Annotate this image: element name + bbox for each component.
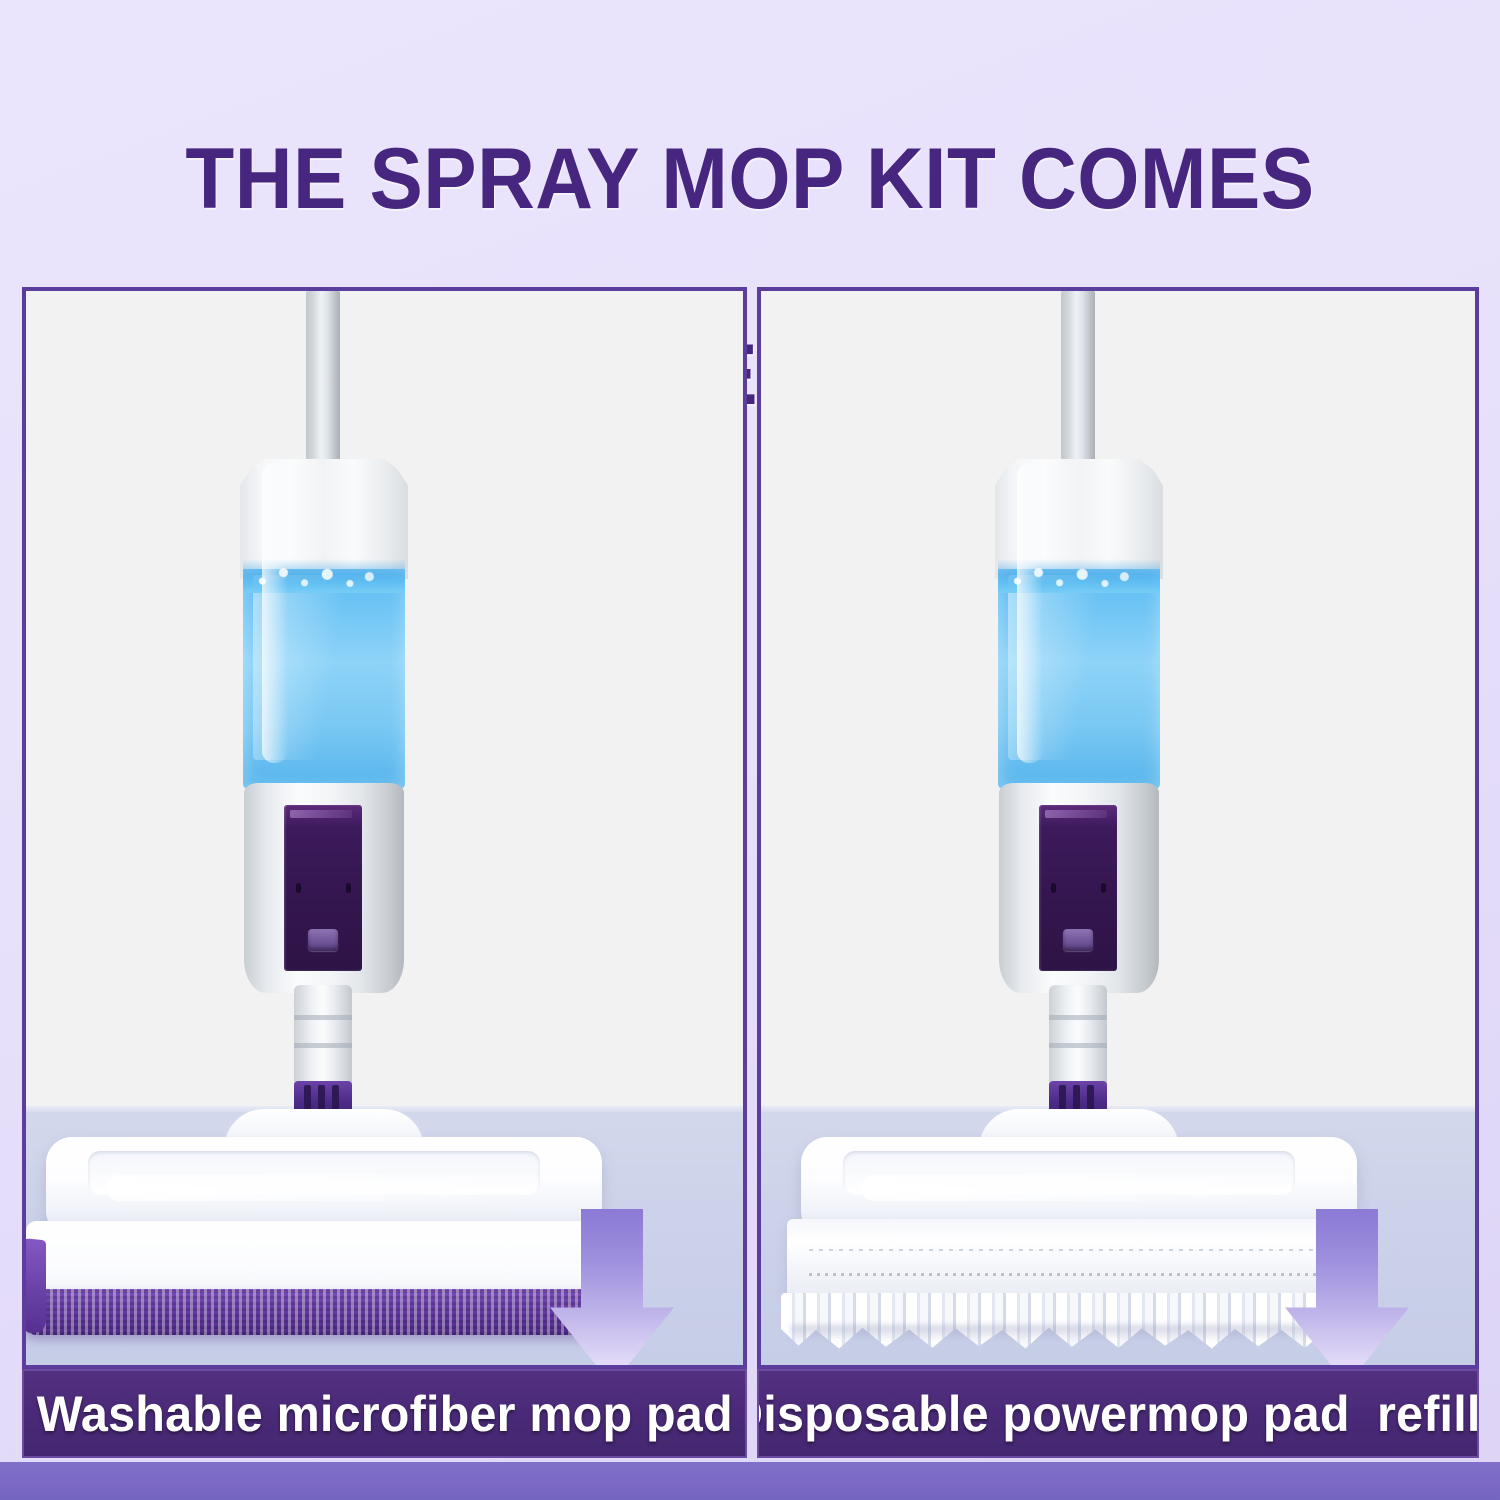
footer-strip xyxy=(0,1462,1500,1500)
caption-bar-right: Disposable powermop pad refills xyxy=(757,1369,1479,1458)
caption-text-left: Washable microfiber mop pad xyxy=(36,1385,732,1443)
spray-button xyxy=(308,929,338,951)
mop-handle-body xyxy=(999,783,1159,993)
spray-mop-illustration-left xyxy=(202,291,442,1365)
caption-text-right: Disposable powermop pad refills xyxy=(757,1385,1479,1443)
neck-rib xyxy=(1049,1015,1107,1020)
spray-mop-illustration-right xyxy=(957,291,1197,1365)
spray-button xyxy=(1063,929,1093,951)
arrow-down-icon xyxy=(1285,1209,1409,1369)
infographic-canvas: THE SPRAY MOP KIT COMES WITH TWO TYPES O… xyxy=(0,0,1500,1500)
solution-bottle xyxy=(995,459,1163,789)
mop-neck xyxy=(1049,985,1107,1091)
mop-head-sheen xyxy=(106,1175,526,1201)
neck-rib xyxy=(294,1015,352,1020)
washable-microfiber-pad xyxy=(26,1221,606,1341)
arrow-down-glyph xyxy=(550,1209,674,1369)
mop-head-sheen xyxy=(861,1175,1281,1201)
mop-handle-body xyxy=(244,783,404,993)
title-line-1: THE SPRAY MOP KIT COMES xyxy=(53,130,1448,228)
bottle-highlight xyxy=(1017,463,1043,763)
pad-purple-microfiber-trim xyxy=(22,1289,610,1335)
pad-stitch-line xyxy=(809,1249,1343,1251)
solution-bottle xyxy=(240,459,408,789)
mop-pole xyxy=(306,291,340,467)
mop-neck xyxy=(294,985,352,1091)
caption-bar-left: Washable microfiber mop pad xyxy=(22,1369,747,1458)
product-panel-left xyxy=(22,287,747,1369)
arrow-down-glyph xyxy=(1285,1209,1409,1369)
spray-trigger-panel xyxy=(284,805,362,971)
neck-rib xyxy=(1049,1043,1107,1048)
bottle-highlight xyxy=(262,463,288,763)
pad-trim-side xyxy=(22,1238,46,1335)
spray-trigger-panel xyxy=(1039,805,1117,971)
trigger-notch-left xyxy=(1051,883,1056,893)
product-panel-right xyxy=(757,287,1479,1369)
trigger-notch-left xyxy=(296,883,301,893)
pad-face xyxy=(787,1219,1353,1305)
disposable-powermop-pad xyxy=(781,1219,1363,1355)
arrow-down-icon xyxy=(550,1209,674,1369)
pad-stitch-line xyxy=(809,1273,1343,1276)
neck-rib xyxy=(294,1043,352,1048)
mop-pole xyxy=(1061,291,1095,467)
pad-drop-shadow xyxy=(791,1325,1351,1341)
trigger-notch-right xyxy=(1101,883,1106,893)
trigger-notch-right xyxy=(346,883,351,893)
